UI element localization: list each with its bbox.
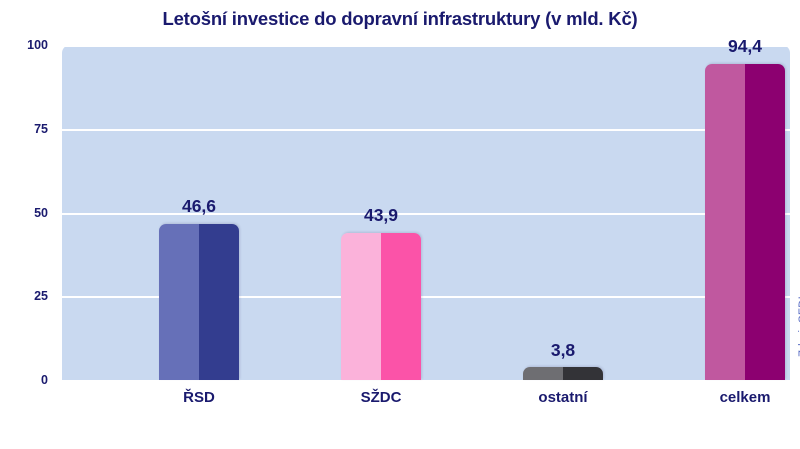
chart-title: Letošní investice do dopravní infrastruk… [0,8,800,30]
bar-group-szdc: 43,9 [290,45,472,380]
y-tick-label-50: 50 [34,206,48,219]
y-tick-label-0: 0 [41,374,48,387]
bar-szdc[interactable] [341,233,421,380]
bar-value-label-celkem: 94,4 [728,38,762,56]
bar-half-dark [745,64,785,380]
y-tick-label-25: 25 [34,290,48,303]
bar-chart: Letošní investice do dopravní infrastruk… [0,0,800,449]
bar-half-light [159,224,199,380]
x-tick-label-szdc: SŽDC [290,388,472,408]
bar-half-dark [381,233,421,380]
x-tick-label-ostatni: ostatní [472,388,654,408]
bar-half-dark [199,224,239,380]
bar-half-light [705,64,745,380]
bar-value-label-szdc: 43,9 [364,207,398,225]
bar-half-light [341,233,381,380]
bar-group-ostatni: 3,8 [472,45,654,380]
bar-value-label-rsd: 46,6 [182,198,216,216]
y-tick-label-75: 75 [34,123,48,136]
x-tick-label-celkem: celkem [654,388,800,408]
bar-group-rsd: 46,6 [108,45,290,380]
bar-rsd[interactable] [159,224,239,380]
bar-celkem[interactable] [705,64,785,380]
bar-half-light [523,367,563,380]
bar-ostatni[interactable] [523,367,603,380]
y-tick-label-100: 100 [27,39,48,52]
bar-group-celkem: 94,4 [654,45,800,380]
x-axis: ŘSD SŽDC ostatní celkem [62,388,790,416]
bar-value-label-ostatni: 3,8 [551,342,575,360]
x-tick-label-rsd: ŘSD [108,388,290,408]
bars-layer: 46,6 43,9 3,8 94,4 [62,45,790,380]
y-axis: 100 75 50 25 0 [0,45,56,380]
bar-half-dark [563,367,603,380]
